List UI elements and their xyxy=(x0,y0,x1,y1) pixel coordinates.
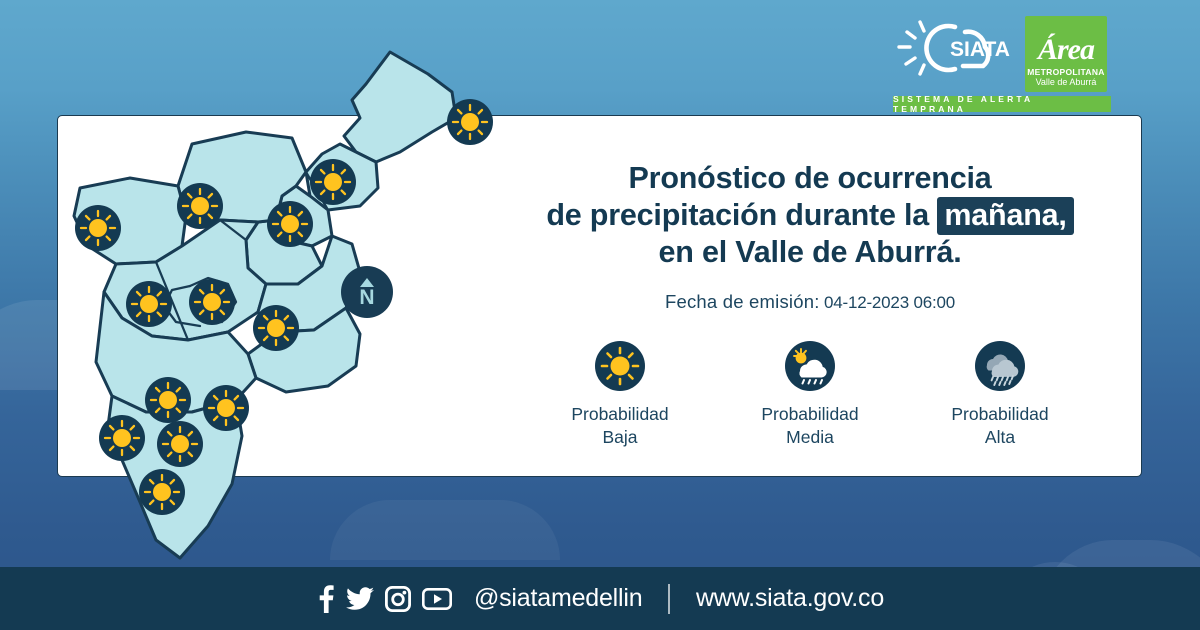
twitter-icon[interactable] xyxy=(346,587,374,611)
infographic-stage: SIATA Área METROPOLITANA Valle de Aburrá… xyxy=(0,0,1200,630)
map-marker-bello[interactable] xyxy=(75,205,121,251)
map-marker-sabaneta[interactable] xyxy=(145,377,191,423)
legend-item-high: Probabilidad Alta xyxy=(905,341,1095,449)
facebook-icon[interactable] xyxy=(316,585,335,613)
compass-north-icon: N xyxy=(341,266,393,318)
legend-label-high: Probabilidad Alta xyxy=(951,403,1048,449)
map-marker-girardota[interactable] xyxy=(310,159,356,205)
area-script-wordmark: Área xyxy=(1038,35,1094,65)
logo-row: SIATA Área METROPOLITANA Valle de Aburrá… xyxy=(893,14,1133,110)
map-marker-san-pedro[interactable] xyxy=(177,183,223,229)
forecast-content: Pronóstico de ocurrencia de precipitació… xyxy=(500,160,1120,449)
legend-label-low: Probabilidad Baja xyxy=(571,403,668,449)
legend-label-high-line1: Probabilidad xyxy=(951,403,1048,426)
headline-line-2-text: de precipitación durante la xyxy=(546,198,937,232)
map-marker-barbosa[interactable] xyxy=(447,99,493,145)
map-marker-envigado[interactable] xyxy=(189,279,235,325)
map-marker-caldas[interactable] xyxy=(203,385,249,431)
issue-date-value: 04-12-2023 06:00 xyxy=(824,293,955,312)
instagram-icon[interactable] xyxy=(385,586,411,612)
probability-legend: Probabilidad Baja xyxy=(500,341,1120,449)
compass-north-label: N xyxy=(359,288,374,307)
legend-label-medium-line1: Probabilidad xyxy=(761,403,858,426)
area-line-metropolitana: METROPOLITANA xyxy=(1027,67,1104,77)
footer-divider xyxy=(668,584,670,614)
social-handle[interactable]: @siatamedellin xyxy=(474,584,643,613)
legend-label-low-line1: Probabilidad xyxy=(571,403,668,426)
map-marker-la-estrella[interactable] xyxy=(99,415,145,461)
siata-wordmark: SIATA xyxy=(950,38,1010,61)
page-title: Pronóstico de ocurrencia de precipitació… xyxy=(500,160,1120,271)
map-marker-itag-[interactable] xyxy=(253,305,299,351)
area-line-valle: Valle de Aburrá xyxy=(1036,77,1097,88)
footer-bar: @siatamedellin www.siata.gov.co xyxy=(0,567,1200,630)
map-marker-copacabana[interactable] xyxy=(267,201,313,247)
website-url[interactable]: www.siata.gov.co xyxy=(696,584,884,613)
headline-highlight: mañana, xyxy=(937,197,1073,235)
map-region-barbosa xyxy=(344,52,456,162)
area-metropolitana-logo: Área METROPOLITANA Valle de Aburrá xyxy=(1025,16,1107,92)
sun-cloud-rain-icon xyxy=(785,341,835,391)
legend-label-medium: Probabilidad Media xyxy=(761,403,858,449)
cloud-rain-icon xyxy=(975,341,1025,391)
legend-label-high-line2: Alta xyxy=(951,426,1048,449)
legend-label-medium-line2: Media xyxy=(761,426,858,449)
youtube-icon[interactable] xyxy=(422,588,452,610)
map-marker-medell-n[interactable] xyxy=(126,281,172,327)
issue-date-label: Fecha de emisión: xyxy=(665,291,820,312)
map-marker-caldas-sur[interactable] xyxy=(139,469,185,515)
siata-logo: SIATA xyxy=(893,14,1021,86)
aburra-valley-map: N xyxy=(60,40,460,580)
headline-line-3: en el Valle de Aburrá. xyxy=(500,234,1120,271)
map-marker-estrella-sur[interactable] xyxy=(157,421,203,467)
headline-line-1: Pronóstico de ocurrencia xyxy=(500,160,1120,197)
social-icons xyxy=(316,585,452,613)
issue-date: Fecha de emisión: 04-12-2023 06:00 xyxy=(500,291,1120,313)
siata-tagline: SISTEMA DE ALERTA TEMPRANA xyxy=(893,96,1111,112)
legend-item-low: Probabilidad Baja xyxy=(525,341,715,449)
sun-icon xyxy=(595,341,645,391)
legend-item-medium: Probabilidad Media xyxy=(715,341,905,449)
headline-line-2: de precipitación durante la mañana, xyxy=(500,197,1120,234)
legend-label-low-line2: Baja xyxy=(571,426,668,449)
